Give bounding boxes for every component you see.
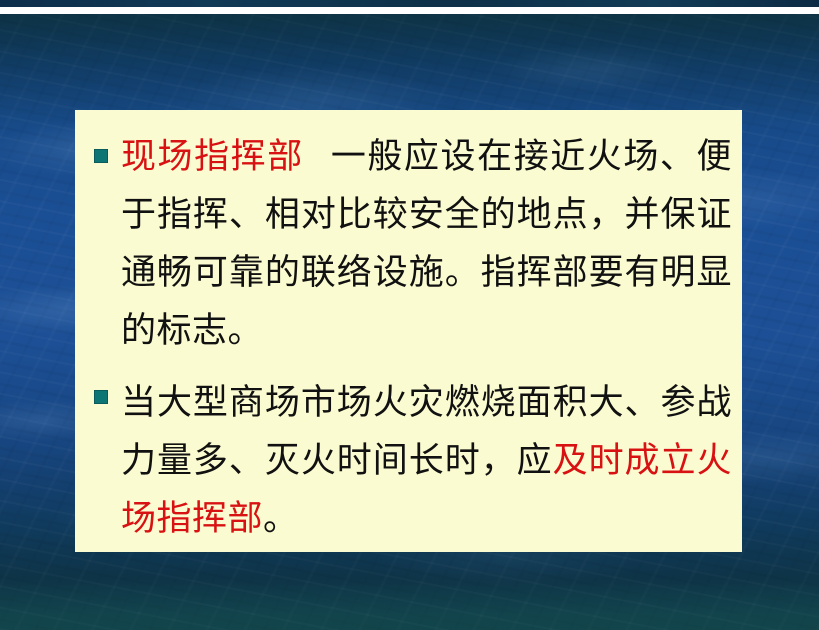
top-decorative-band [0,0,819,7]
square-bullet-icon [94,149,108,163]
bullet-list: 现场指挥部一般应设在接近火场、便于指挥、相对比较安全的地点，并保证通畅可靠的联络… [83,128,732,548]
bullet-1-segment-highlight: 现场指挥部 [121,137,304,177]
square-bullet-icon [94,390,108,404]
slide-canvas: 现场指挥部一般应设在接近火场、便于指挥、相对比较安全的地点，并保证通畅可靠的联络… [0,14,819,630]
content-card: 现场指挥部一般应设在接近火场、便于指挥、相对比较安全的地点，并保证通畅可靠的联络… [75,110,742,552]
bullet-2-segment-body-tail: 。 [263,499,299,539]
list-item: 现场指挥部一般应设在接近火场、便于指挥、相对比较安全的地点，并保证通畅可靠的联络… [83,128,732,360]
bullet-text-1: 现场指挥部一般应设在接近火场、便于指挥、相对比较安全的地点，并保证通畅可靠的联络… [121,128,732,360]
bullet-text-2: 当大型商场市场火灾燃烧面积大、参战力量多、灭火时间长时，应及时成立火场指挥部。 [121,374,732,548]
top-white-gutter [0,7,819,14]
list-item: 当大型商场市场火灾燃烧面积大、参战力量多、灭火时间长时，应及时成立火场指挥部。 [83,374,732,548]
presentation-slide: 现场指挥部一般应设在接近火场、便于指挥、相对比较安全的地点，并保证通畅可靠的联络… [0,0,819,630]
